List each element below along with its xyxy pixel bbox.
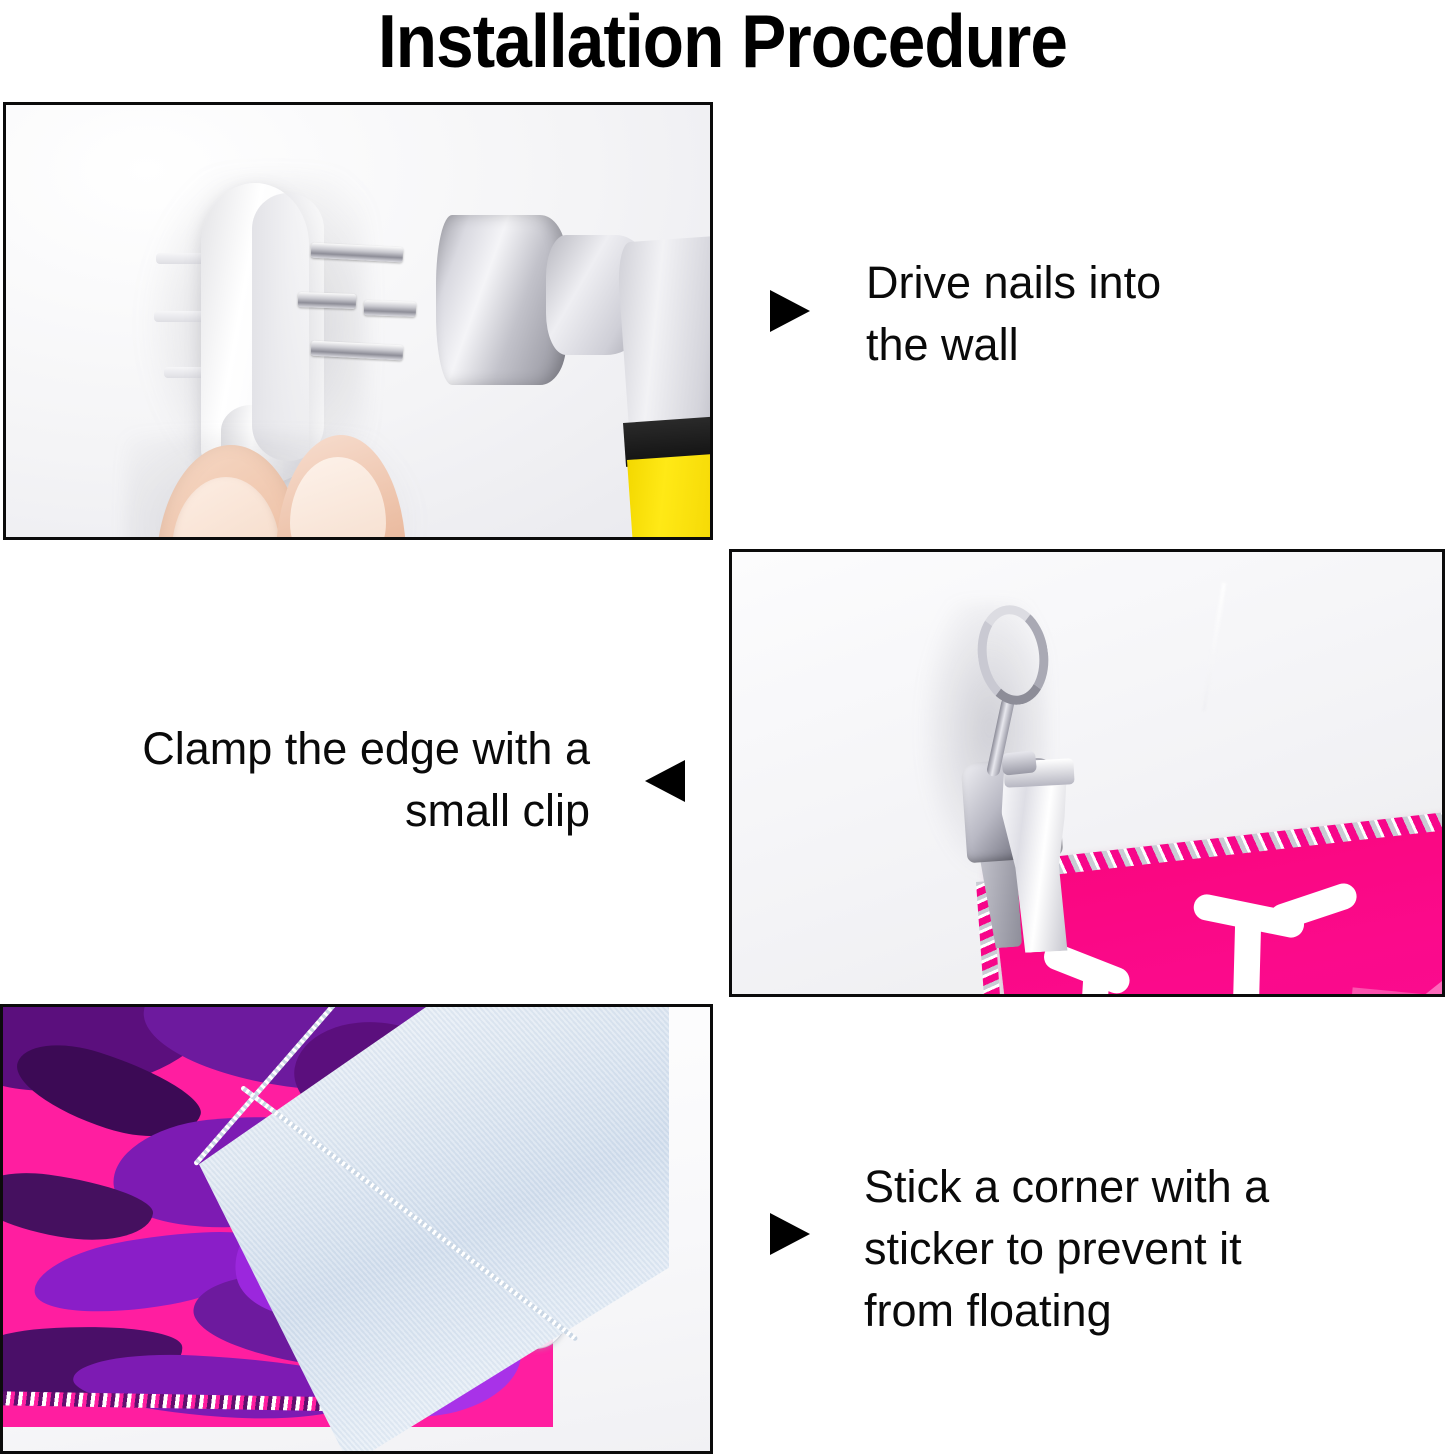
step-1-photo-inner [6, 105, 710, 537]
step-3-photo-inner [3, 1007, 710, 1451]
step-1-photo [3, 102, 713, 540]
installation-procedure-infographic: Installation Procedure [0, 0, 1445, 1454]
banner-highlight [1339, 987, 1442, 994]
step-1-caption: Drive nails into the wall [866, 252, 1286, 376]
nail [364, 300, 416, 317]
arrow-left-icon [645, 760, 685, 802]
wall-hook-plate [252, 193, 324, 461]
arrow-right-icon [770, 290, 810, 332]
nail [298, 292, 356, 309]
step-3-photo [0, 1004, 713, 1454]
page-title: Installation Procedure [72, 0, 1373, 84]
arrow-right-icon [770, 1213, 810, 1255]
step-3-caption: Stick a corner with a sticker to prevent… [864, 1156, 1334, 1342]
banner-glyph [1266, 880, 1360, 933]
step-2-photo [729, 549, 1445, 997]
step-2-caption: Clamp the edge with a small clip [80, 718, 590, 842]
step-2-photo-inner [732, 552, 1442, 994]
banner-gloss [1166, 985, 1295, 994]
hammer-grip [627, 453, 710, 537]
clip-screw [1001, 750, 1037, 775]
